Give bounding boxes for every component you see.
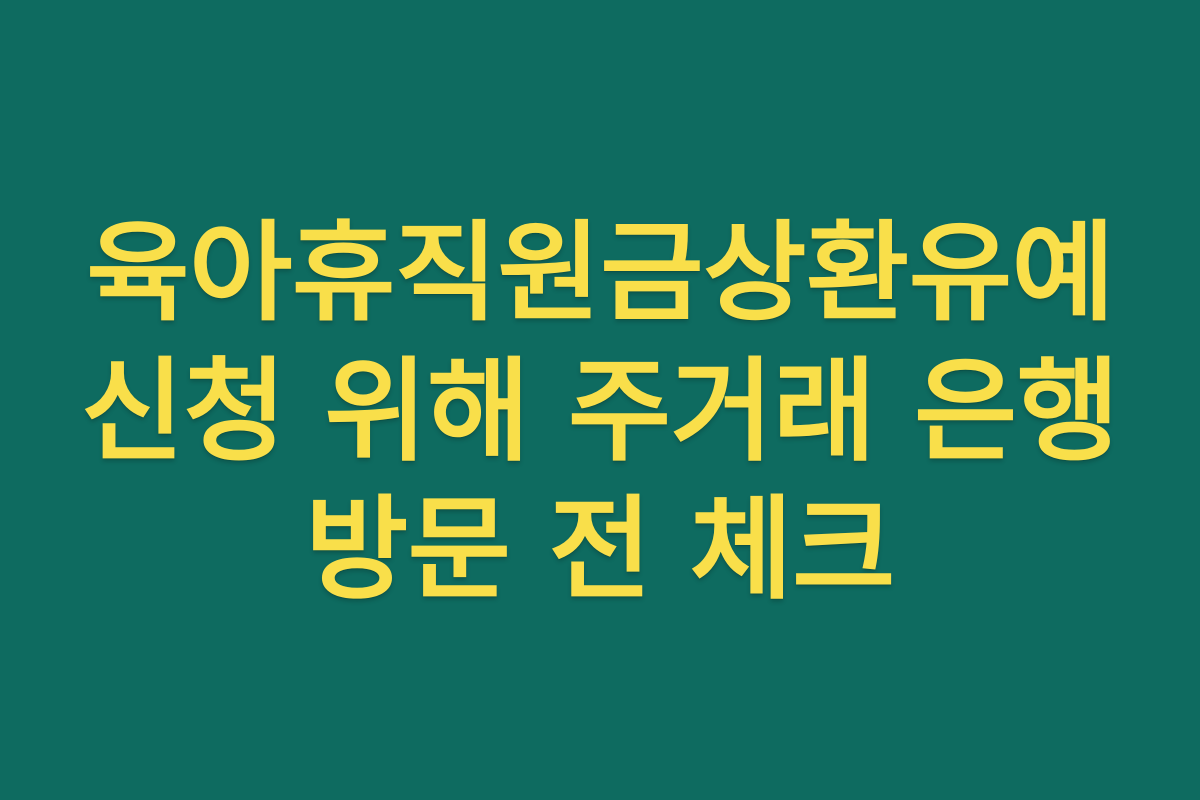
poster-canvas: 육아휴직원금상환유예 신청 위해 주거래 은행 방문 전 체크 xyxy=(0,0,1200,800)
headline-line-2: 신청 위해 주거래 은행 xyxy=(81,343,1119,481)
headline-block: 육아휴직원금상환유예 신청 위해 주거래 은행 방문 전 체크 xyxy=(0,205,1200,619)
headline-line-3: 방문 전 체크 xyxy=(305,481,895,619)
headline-line-1: 육아휴직원금상환유예 xyxy=(86,205,1114,343)
